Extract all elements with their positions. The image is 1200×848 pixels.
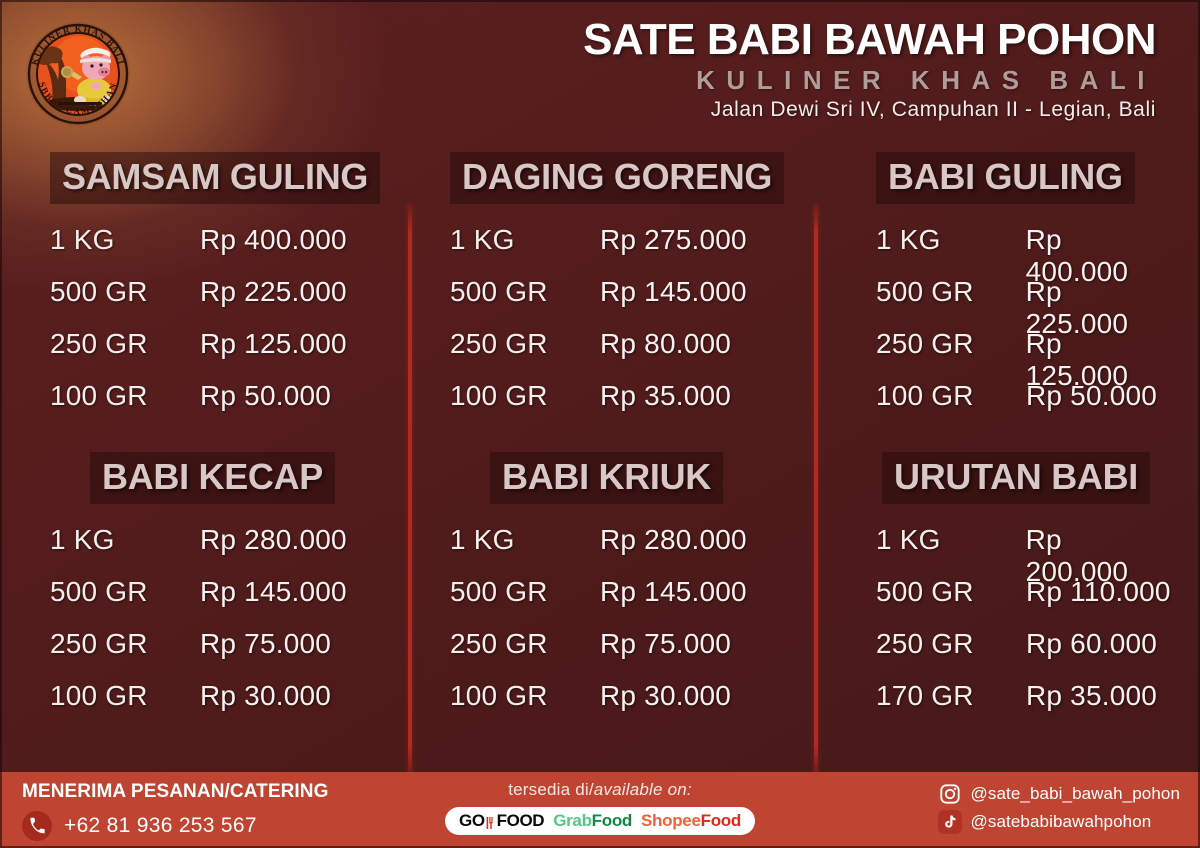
availability-italic: available on:	[594, 780, 692, 799]
qty-label: 500 GR	[450, 276, 600, 308]
price-value: Rp 35.000	[1026, 680, 1157, 712]
price-row: 1 KG Rp 400.000	[50, 224, 382, 276]
price-list: 1 KG Rp 280.000 500 GR Rp 145.000 250 GR…	[50, 524, 382, 732]
qty-label: 1 KG	[50, 524, 200, 556]
price-value: Rp 145.000	[600, 276, 747, 308]
shopee-text-b: Food	[701, 811, 741, 830]
brand-title: SATE BABI BAWAH POHON	[436, 18, 1156, 63]
poster-footer: MENERIMA PESANAN/CATERING +62 81 936 253…	[0, 772, 1200, 848]
qty-label: 500 GR	[876, 276, 1026, 308]
price-value: Rp 125.000	[200, 328, 347, 360]
price-row: 500 GR Rp 225.000	[50, 276, 382, 328]
price-list: 1 KG Rp 400.000 500 GR Rp 225.000 250 GR…	[876, 224, 1172, 432]
qty-label: 250 GR	[876, 628, 1026, 660]
qty-label: 1 KG	[50, 224, 200, 256]
price-list: 1 KG Rp 200.000 500 GR Rp 110.000 250 GR…	[876, 524, 1172, 732]
menu-section-babi-kriuk: BABI KRIUK 1 KG Rp 280.000 500 GR Rp 145…	[410, 452, 816, 752]
price-value: Rp 280.000	[600, 524, 747, 556]
grab-text-b: Food	[592, 811, 632, 830]
section-title: BABI KRIUK	[490, 452, 723, 504]
price-row: 1 KG Rp 280.000	[50, 524, 382, 576]
brand-subtitle: KULINER KHAS BALI	[436, 64, 1156, 97]
price-row: 100 GR Rp 50.000	[50, 380, 382, 432]
price-value: Rp 75.000	[200, 628, 331, 660]
qty-label: 250 GR	[450, 628, 600, 660]
price-row: 100 GR Rp 30.000	[50, 680, 382, 732]
social-tiktok[interactable]: @satebabibawahpohon	[938, 810, 1180, 834]
phone-contact[interactable]: +62 81 936 253 567	[22, 811, 329, 841]
section-title: SAMSAM GULING	[50, 152, 380, 204]
grabfood-logo[interactable]: GrabFood	[553, 811, 632, 831]
menu-section-babi-kecap: BABI KECAP 1 KG Rp 280.000 500 GR Rp 145…	[0, 452, 410, 752]
qty-label: 1 KG	[450, 524, 600, 556]
instagram-handle: @sate_babi_bawah_pohon	[971, 784, 1180, 804]
price-row: 100 GR Rp 35.000	[450, 380, 788, 432]
gofood-text-a: GO	[459, 811, 485, 831]
price-row: 1 KG Rp 200.000	[876, 524, 1172, 576]
availability-prefix: tersedia di/	[508, 780, 594, 799]
menu-poster: KULINER KHAS BALI SBBP · CAMPUHAN SATE B…	[0, 0, 1200, 848]
price-value: Rp 30.000	[200, 680, 331, 712]
qty-label: 1 KG	[876, 524, 1026, 556]
price-row: 500 GR Rp 225.000	[876, 276, 1172, 328]
delivery-partners-pill: GOFOOD GrabFood ShopeeFood	[445, 807, 755, 835]
footer-social-block: @sate_babi_bawah_pohon @satebabibawahpoh…	[938, 782, 1180, 838]
price-row: 100 GR Rp 50.000	[876, 380, 1172, 432]
qty-label: 500 GR	[50, 276, 200, 308]
price-row: 500 GR Rp 145.000	[50, 576, 382, 628]
price-value: Rp 50.000	[1026, 380, 1157, 412]
tiktok-icon	[938, 810, 962, 834]
price-list: 1 KG Rp 280.000 500 GR Rp 145.000 250 GR…	[450, 524, 788, 732]
shopee-text-a: Shopee	[641, 811, 701, 830]
menu-section-daging-goreng: DAGING GORENG 1 KG Rp 275.000 500 GR Rp …	[410, 152, 816, 452]
qty-label: 250 GR	[50, 328, 200, 360]
qty-label: 500 GR	[450, 576, 600, 608]
price-value: Rp 110.000	[1026, 576, 1171, 608]
price-list: 1 KG Rp 275.000 500 GR Rp 145.000 250 GR…	[450, 224, 788, 432]
order-heading: MENERIMA PESANAN/CATERING	[22, 781, 329, 804]
price-value: Rp 35.000	[600, 380, 731, 412]
price-value: Rp 225.000	[200, 276, 347, 308]
qty-label: 500 GR	[876, 576, 1026, 608]
qty-label: 1 KG	[450, 224, 600, 256]
utensil-icon	[486, 815, 496, 829]
price-row: 500 GR Rp 110.000	[876, 576, 1172, 628]
qty-label: 100 GR	[876, 380, 1026, 412]
price-row: 250 GR Rp 125.000	[876, 328, 1172, 380]
price-row: 250 GR Rp 80.000	[450, 328, 788, 380]
qty-label: 500 GR	[50, 576, 200, 608]
qty-label: 100 GR	[450, 680, 600, 712]
price-value: Rp 30.000	[600, 680, 731, 712]
qty-label: 100 GR	[450, 380, 600, 412]
price-value: Rp 145.000	[200, 576, 347, 608]
price-row: 250 GR Rp 75.000	[450, 628, 788, 680]
qty-label: 100 GR	[50, 680, 200, 712]
price-value: Rp 50.000	[200, 380, 331, 412]
grab-text-a: Grab	[553, 811, 591, 830]
price-row: 1 KG Rp 400.000	[876, 224, 1172, 276]
social-instagram[interactable]: @sate_babi_bawah_pohon	[938, 782, 1180, 806]
poster-header: KULINER KHAS BALI SBBP · CAMPUHAN SATE B…	[0, 0, 1200, 152]
price-row: 250 GR Rp 125.000	[50, 328, 382, 380]
price-value: Rp 280.000	[200, 524, 347, 556]
price-row: 170 GR Rp 35.000	[876, 680, 1172, 732]
gofood-text-b: FOOD	[497, 811, 545, 831]
phone-icon	[22, 811, 52, 841]
logo-seal-icon: KULINER KHAS BALI SBBP · CAMPUHAN	[18, 14, 138, 134]
price-row: 250 GR Rp 75.000	[50, 628, 382, 680]
shopeefood-logo[interactable]: ShopeeFood	[641, 811, 741, 831]
menu-section-urutan-babi: URUTAN BABI 1 KG Rp 200.000 500 GR Rp 11…	[816, 452, 1200, 752]
price-row: 1 KG Rp 275.000	[450, 224, 788, 276]
menu-section-babi-guling: BABI GULING 1 KG Rp 400.000 500 GR Rp 22…	[816, 152, 1200, 452]
section-title: URUTAN BABI	[882, 452, 1150, 504]
qty-label: 170 GR	[876, 680, 1026, 712]
price-value: Rp 60.000	[1026, 628, 1157, 660]
brand-text-block: SATE BABI BAWAH POHON KULINER KHAS BALI …	[436, 18, 1156, 123]
price-value: Rp 145.000	[600, 576, 747, 608]
price-list: 1 KG Rp 400.000 500 GR Rp 225.000 250 GR…	[50, 224, 382, 432]
menu-section-samsam-guling: SAMSAM GULING 1 KG Rp 400.000 500 GR Rp …	[0, 152, 410, 452]
qty-label: 250 GR	[50, 628, 200, 660]
price-value: Rp 400.000	[200, 224, 347, 256]
brand-address: Jalan Dewi Sri IV, Campuhan II - Legian,…	[436, 97, 1156, 122]
price-row: 500 GR Rp 145.000	[450, 276, 788, 328]
instagram-icon	[938, 782, 962, 806]
price-row: 1 KG Rp 280.000	[450, 524, 788, 576]
price-value: Rp 275.000	[600, 224, 747, 256]
phone-number: +62 81 936 253 567	[64, 814, 257, 838]
price-value: Rp 80.000	[600, 328, 731, 360]
price-row: 250 GR Rp 60.000	[876, 628, 1172, 680]
price-value: Rp 75.000	[600, 628, 731, 660]
qty-label: 1 KG	[876, 224, 1026, 256]
footer-order-block: MENERIMA PESANAN/CATERING +62 81 936 253…	[22, 781, 329, 841]
price-row: 500 GR Rp 145.000	[450, 576, 788, 628]
price-row: 100 GR Rp 30.000	[450, 680, 788, 732]
tiktok-handle: @satebabibawahpohon	[971, 812, 1152, 832]
brand-logo: KULINER KHAS BALI SBBP · CAMPUHAN	[18, 14, 138, 134]
qty-label: 250 GR	[876, 328, 1026, 360]
section-title: DAGING GORENG	[450, 152, 784, 204]
section-title: BABI KECAP	[90, 452, 335, 504]
qty-label: 250 GR	[450, 328, 600, 360]
gofood-logo[interactable]: GOFOOD	[459, 811, 544, 831]
section-title: BABI GULING	[876, 152, 1135, 204]
qty-label: 100 GR	[50, 380, 200, 412]
menu-grid: SAMSAM GULING 1 KG Rp 400.000 500 GR Rp …	[0, 152, 1200, 772]
